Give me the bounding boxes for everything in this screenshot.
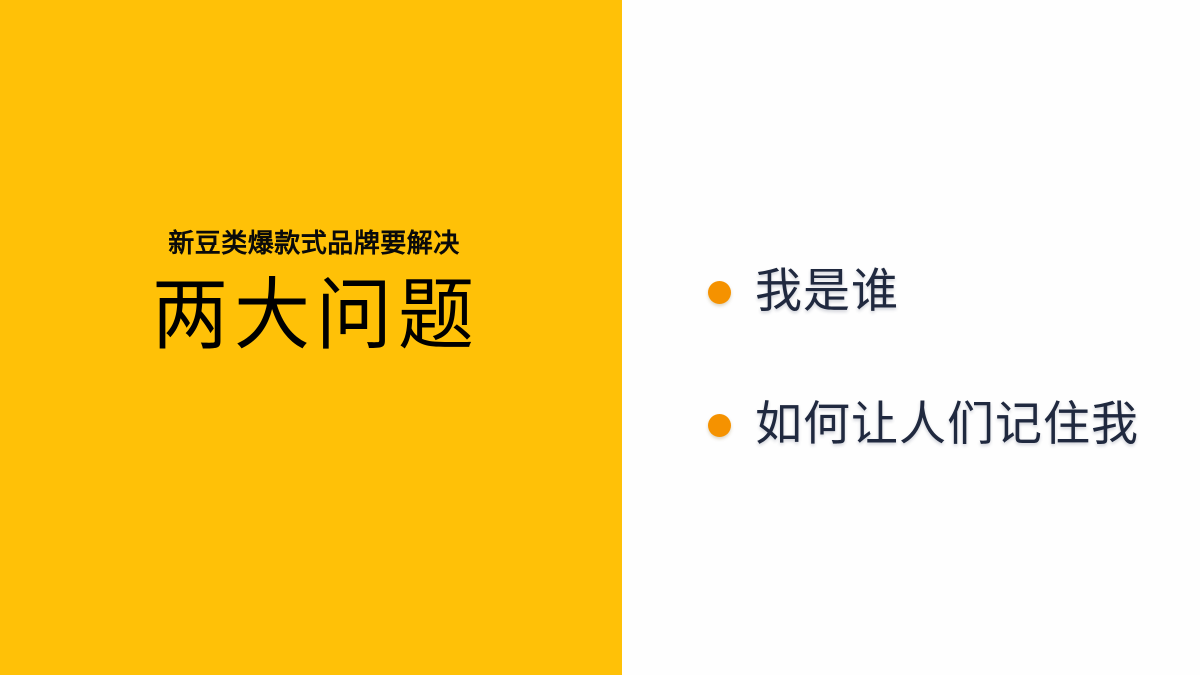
list-item: 如何让人们记住我: [708, 398, 1139, 452]
left-yellow-panel: 新豆类爆款式品牌要解决 两大问题: [0, 0, 622, 675]
presentation-slide: 新豆类爆款式品牌要解决 两大问题 我是谁 如何让人们记住我: [0, 0, 1200, 675]
bullet-item-label: 我是谁: [755, 265, 899, 319]
right-content-panel: 我是谁 如何让人们记住我: [622, 0, 1200, 675]
bullet-dot-icon: [708, 414, 731, 437]
slide-headline: 两大问题: [0, 271, 622, 359]
bullet-dot-icon: [708, 281, 731, 304]
slide-eyebrow-text: 新豆类爆款式品牌要解决: [0, 228, 622, 261]
left-title-block: 新豆类爆款式品牌要解决 两大问题: [0, 228, 622, 356]
list-item: 我是谁: [708, 265, 899, 319]
bullet-item-label: 如何让人们记住我: [755, 398, 1139, 452]
